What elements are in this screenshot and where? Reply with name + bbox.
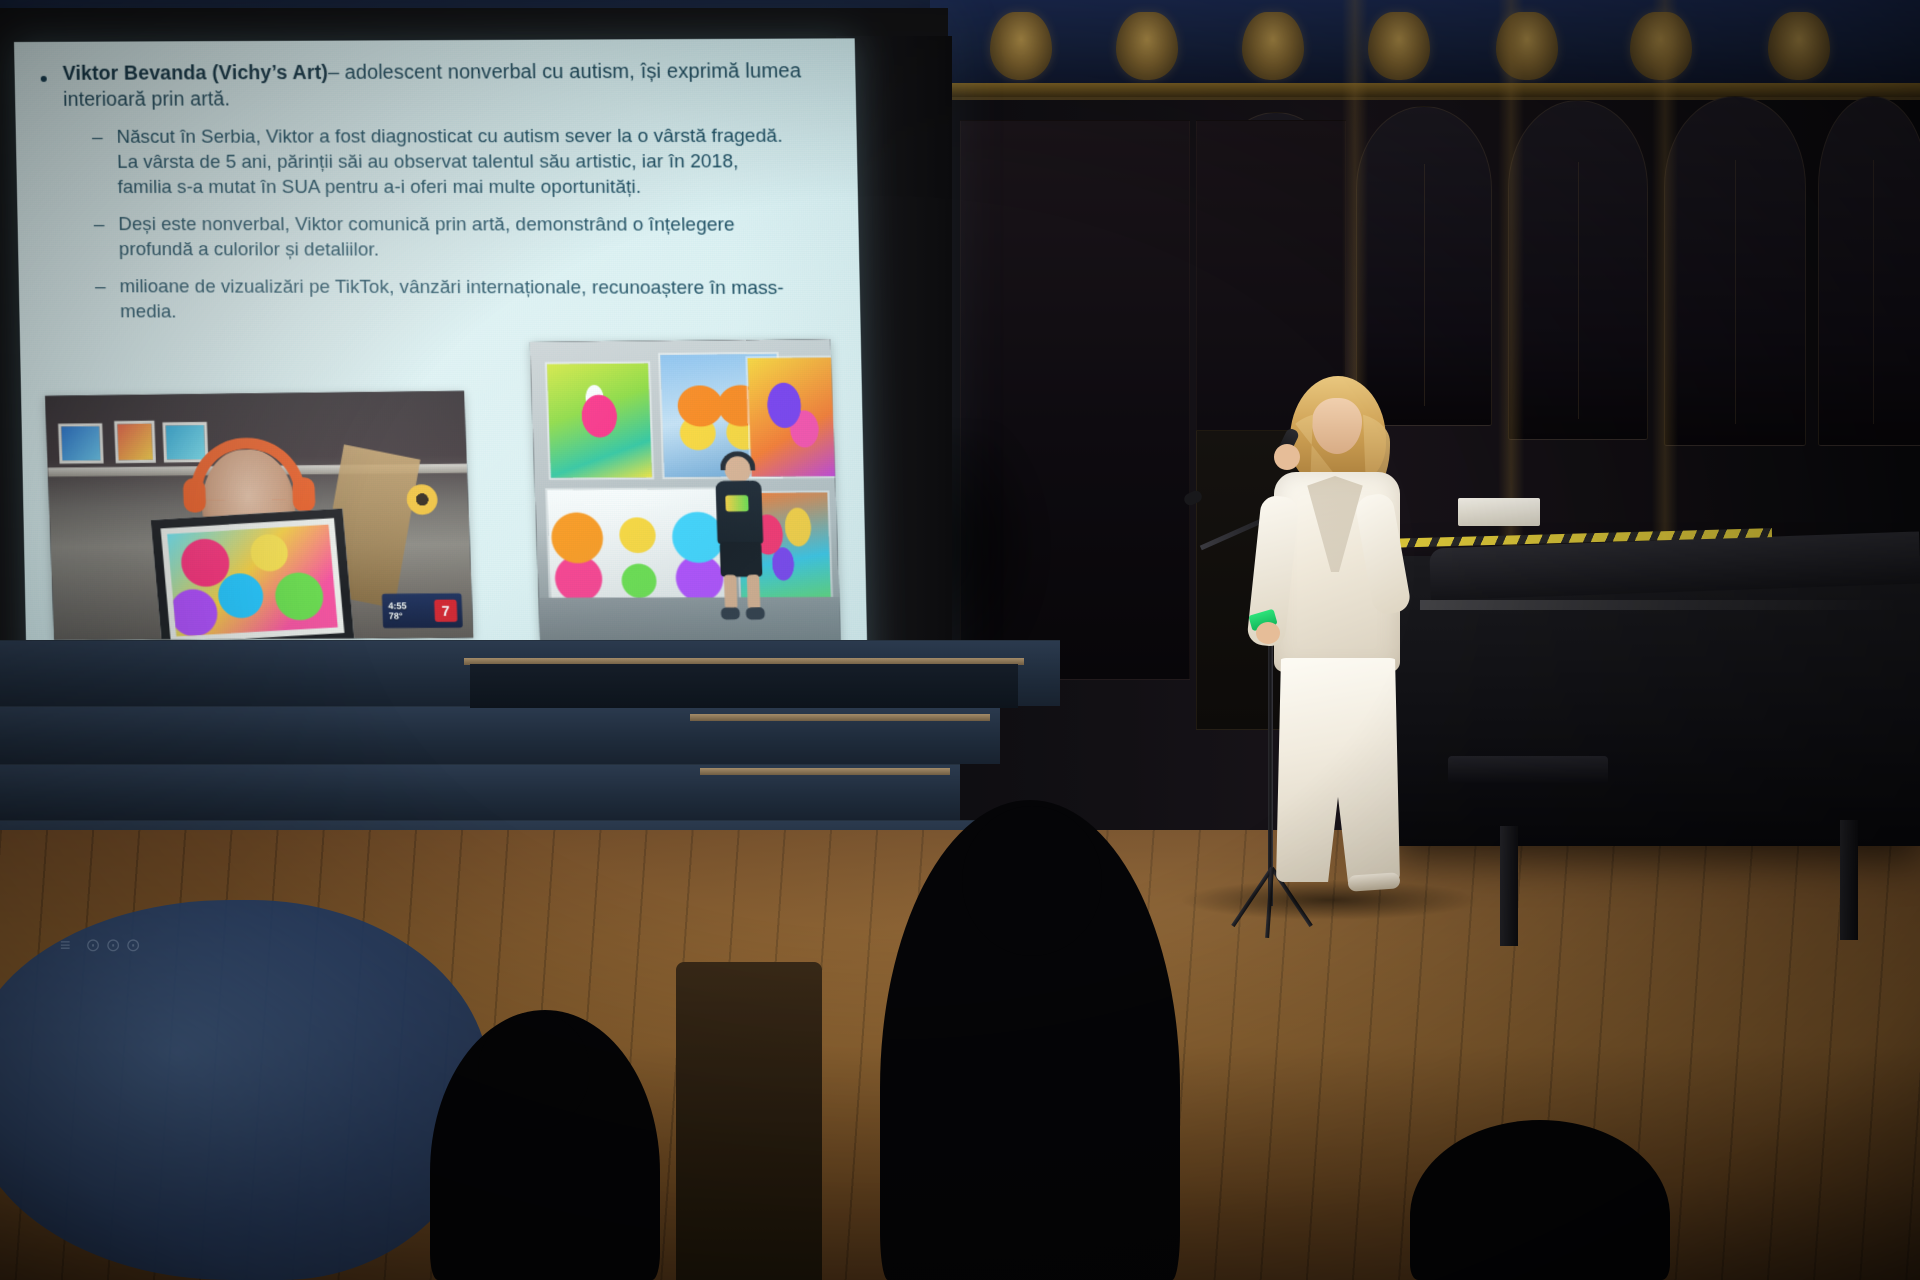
audience-chair xyxy=(676,962,822,1280)
sunflower-icon xyxy=(406,484,438,515)
artwork-flamingo xyxy=(547,363,652,478)
framed-artwork-icon xyxy=(162,422,208,463)
audience-member-head xyxy=(962,806,1102,956)
gold-medallion-icon xyxy=(990,12,1052,80)
boy-legs xyxy=(724,575,761,610)
speaker-hand-with-phone xyxy=(1256,622,1280,644)
gold-medallion-icon xyxy=(1368,12,1430,80)
speaker-presenter xyxy=(1246,376,1426,896)
news-channel-logo-icon: 7 xyxy=(434,599,457,621)
gold-medallion-icon xyxy=(1242,12,1304,80)
framed-artwork-icon xyxy=(58,423,104,464)
colorful-painting xyxy=(167,524,338,636)
news-overlay-badge: 4:55 78° 7 xyxy=(382,593,463,628)
news-time: 4:55 xyxy=(388,600,407,611)
headphone-cup-left xyxy=(183,478,206,512)
wall-tracery-panel xyxy=(1664,96,1806,446)
microphone-icon[interactable] xyxy=(1182,489,1203,507)
sheet-music xyxy=(1458,498,1540,526)
slide-photo-studio: 4:55 78° 7 xyxy=(45,391,473,640)
held-painting-frame xyxy=(151,508,355,640)
gold-medallion-icon xyxy=(1768,12,1830,80)
boy-tshirt xyxy=(715,481,763,544)
headphones-icon xyxy=(720,451,756,471)
speaker-hand-with-mic xyxy=(1274,444,1300,470)
gold-band xyxy=(930,83,1920,97)
news-temperature: 78° xyxy=(389,611,408,622)
speaker-trousers xyxy=(1276,658,1400,882)
boy-shoes xyxy=(721,607,765,619)
rug-pattern: ≡ ⊙⊙⊙ xyxy=(60,935,210,975)
stage-step-riser xyxy=(470,664,1018,708)
piano-bench xyxy=(1448,756,1608,784)
piano-leg xyxy=(1840,820,1858,940)
slide-photo-gallery xyxy=(530,339,842,656)
headphone-cup-right xyxy=(292,477,316,511)
tshirt-print xyxy=(725,495,748,511)
framed-artwork-icon xyxy=(114,421,156,464)
piano-leg xyxy=(1500,826,1518,946)
wall-tracery-panel xyxy=(1508,100,1648,440)
presentation-scene: Viktor Bevanda (Vichy’s Art)– adolescent… xyxy=(0,0,1920,1280)
piano-highlight xyxy=(1420,600,1900,610)
stage-step-edge xyxy=(690,714,990,721)
speaker-shoe xyxy=(1348,872,1401,892)
boy-standing-in-gallery xyxy=(707,454,773,624)
audience-member-head xyxy=(478,1012,590,1130)
artwork-three-monkeys xyxy=(547,489,729,610)
gold-medallion-icon xyxy=(1116,12,1178,80)
slide-photo-group: 4:55 78° 7 xyxy=(14,38,868,691)
stage-step-edge xyxy=(700,768,950,775)
ornate-ceiling-frieze xyxy=(930,0,1920,100)
presentation-slide: Viktor Bevanda (Vichy’s Art)– adolescent… xyxy=(14,38,868,691)
boy-shorts xyxy=(720,542,763,577)
projection-screen: Viktor Bevanda (Vichy’s Art)– adolescent… xyxy=(0,8,948,698)
news-time-temp: 4:55 78° xyxy=(382,600,407,621)
wall-tracery-panel xyxy=(1818,96,1920,446)
